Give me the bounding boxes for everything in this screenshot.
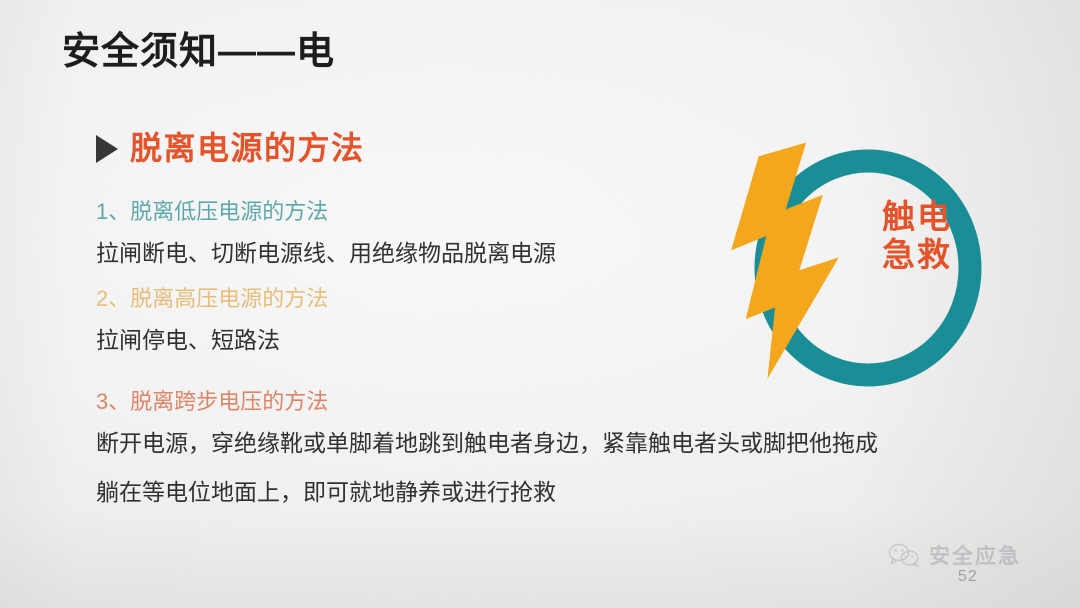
list-item-body-3-line-1: 断开电源，穿绝缘靴或单脚着地跳到触电者身边，紧靠触电者头或脚把他拖成 [96,426,916,462]
page-number: 52 [958,568,978,586]
watermark-text: 安全应急 [929,540,1021,570]
spacer [96,372,916,388]
content-body: 脱离电源的方法 1、脱离低压电源的方法 拉闸断电、切断电源线、用绝缘物品脱离电源… [96,132,916,525]
triangle-right-icon [96,135,118,163]
section-heading-row: 脱离电源的方法 [96,132,916,164]
list-item-label-1: 1、脱离低压电源的方法 [96,198,916,226]
list-item-label-2: 2、脱离高压电源的方法 [96,285,916,313]
wechat-icon [888,543,920,567]
watermark: 安全应急 [888,540,1021,570]
slide-canvas: 安全须知——电 脱离电源的方法 1、脱离低压电源的方法 拉闸断电、切断电源线、用… [0,0,1080,608]
list-item-body-3-line-2: 躺在等电位地面上，即可就地静养或进行抢救 [96,475,916,511]
section-heading: 脱离电源的方法 [130,132,365,164]
list-item-body-2: 拉闸停电、短路法 [96,323,916,359]
list-item-label-3: 3、脱离跨步电压的方法 [96,388,916,416]
list-item-body-1: 拉闸断电、切断电源线、用绝缘物品脱离电源 [96,236,916,272]
page-title: 安全须知——电 [62,20,335,75]
